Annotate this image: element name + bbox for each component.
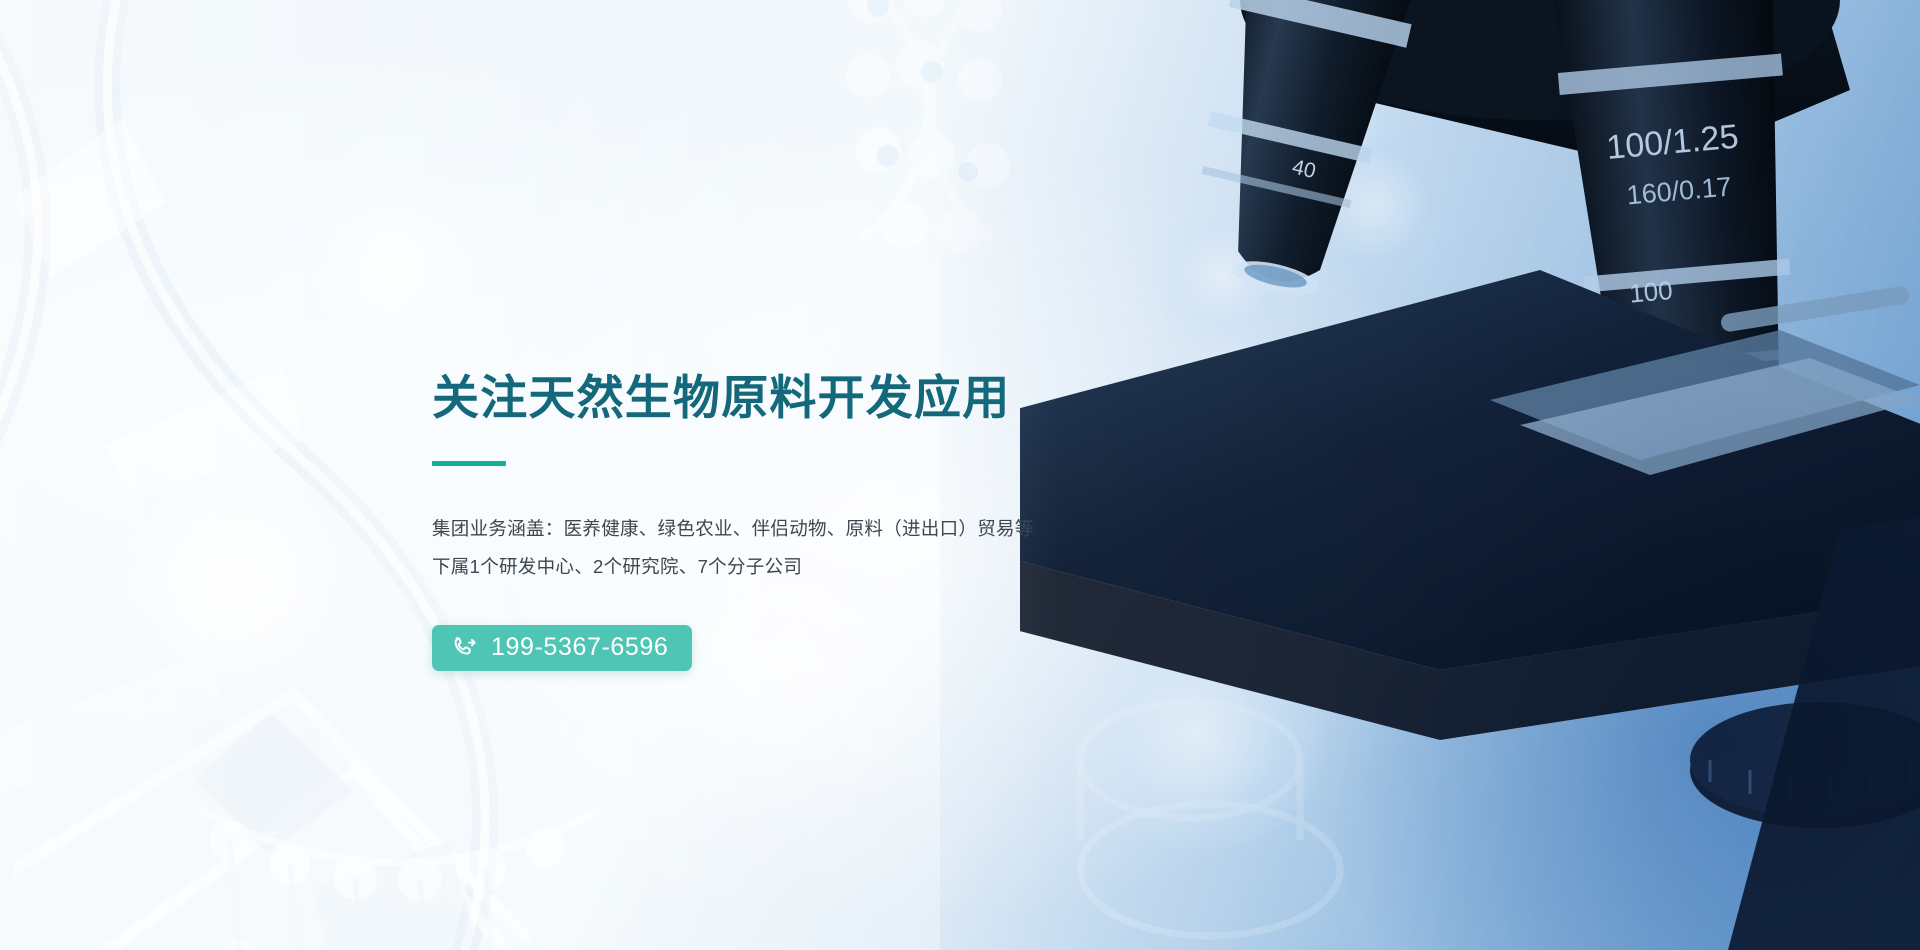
bokeh-light — [300, 170, 490, 360]
bokeh-light — [1290, 120, 1460, 290]
hero-content: 关注天然生物原料开发应用 集团业务涵盖：医养健康、绿色农业、伴侣动物、原料（进出… — [432, 372, 1192, 671]
hero-description-line-2: 下属1个研发中心、2个研究院、7个分子公司 — [432, 548, 1192, 586]
svg-text:160/0.17: 160/0.17 — [1625, 171, 1732, 210]
hero-description-line-1: 集团业务涵盖：医养健康、绿色农业、伴侣动物、原料（进出口）贸易等 — [432, 510, 1192, 548]
bokeh-light — [1215, 20, 1415, 220]
phone-forwarded-icon — [453, 635, 478, 660]
phone-cta-button[interactable]: 199-5367-6596 — [432, 625, 692, 671]
bokeh-light — [120, 470, 350, 700]
title-underline-rule — [432, 461, 506, 466]
svg-text:100/1.25: 100/1.25 — [1605, 118, 1740, 167]
svg-text:100: 100 — [1628, 275, 1674, 309]
hero-banner: 40 100/1.25 160/0.17 100 — [0, 0, 1920, 950]
phone-number: 199-5367-6596 — [491, 635, 668, 660]
molecular-dna-icon — [170, 770, 730, 950]
page-title: 关注天然生物原料开发应用 — [432, 372, 1192, 425]
glassware-icon — [1060, 640, 1480, 950]
hero-description: 集团业务涵盖：医养健康、绿色农业、伴侣动物、原料（进出口）贸易等 下属1个研发中… — [432, 510, 1192, 587]
svg-text:40: 40 — [1290, 155, 1318, 183]
bokeh-light — [1150, 200, 1300, 350]
